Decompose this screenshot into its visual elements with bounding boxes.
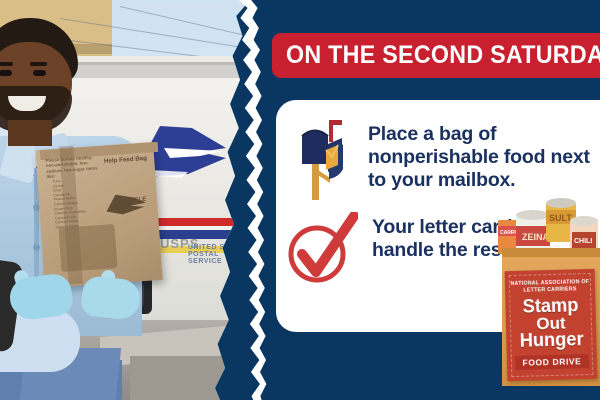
photo-carrier-button	[33, 244, 40, 251]
photo-bag-illustration	[59, 224, 118, 272]
photo-carrier-eye	[33, 70, 46, 76]
mailbox-icon	[292, 114, 358, 205]
svg-text:CHILI: CHILI	[574, 238, 592, 245]
stamp-out-hunger-logo: NATIONAL ASSOCIATION OF LETTER CARRIERS …	[505, 269, 598, 381]
poster-content: ON THE SECOND SATURDAY IN MA	[250, 0, 600, 400]
logo-organization-text: NATIONAL ASSOCIATION OF LETTER CARRIERS	[505, 279, 595, 295]
headline-text: ON THE SECOND SATURDAY IN MA	[286, 43, 600, 68]
carrier-photo: USPS UNITED STATES POSTAL SERVICE	[0, 0, 250, 400]
photo-carrier-eyebrow	[30, 62, 47, 66]
photo-sidewalk	[130, 356, 250, 400]
logo-line-hunger: Hunger	[519, 331, 583, 351]
svg-text:ZEINA: ZEINA	[522, 232, 550, 242]
photo-carrier-eye	[0, 70, 12, 76]
photo-bag-eagle-icon: EAGLE	[103, 188, 151, 217]
svg-text:SULT: SULT	[549, 213, 572, 223]
grocery-bag-fold	[502, 248, 600, 257]
check-circle-icon	[284, 212, 358, 295]
photo-carrier-eyebrow	[0, 62, 13, 66]
poster-canvas: USPS UNITED STATES POSTAL SERVICE	[0, 0, 600, 400]
headline-banner: ON THE SECOND SATURDAY IN MA	[272, 33, 600, 78]
instruction-text-mailbox: Place a bag of nonperishable food next t…	[368, 123, 600, 192]
photo-truck-subtext: UNITED STATES POSTAL SERVICE	[188, 244, 250, 265]
logo-tagline: FOOD DRIVE	[514, 354, 589, 370]
photo-carrier-neck	[8, 120, 52, 146]
photo-bag-items-text: Tuna Cereal Soup Canola Oil Peanut Butte…	[52, 177, 97, 230]
instruction-row-mailbox: Place a bag of nonperishable food next t…	[292, 114, 600, 205]
